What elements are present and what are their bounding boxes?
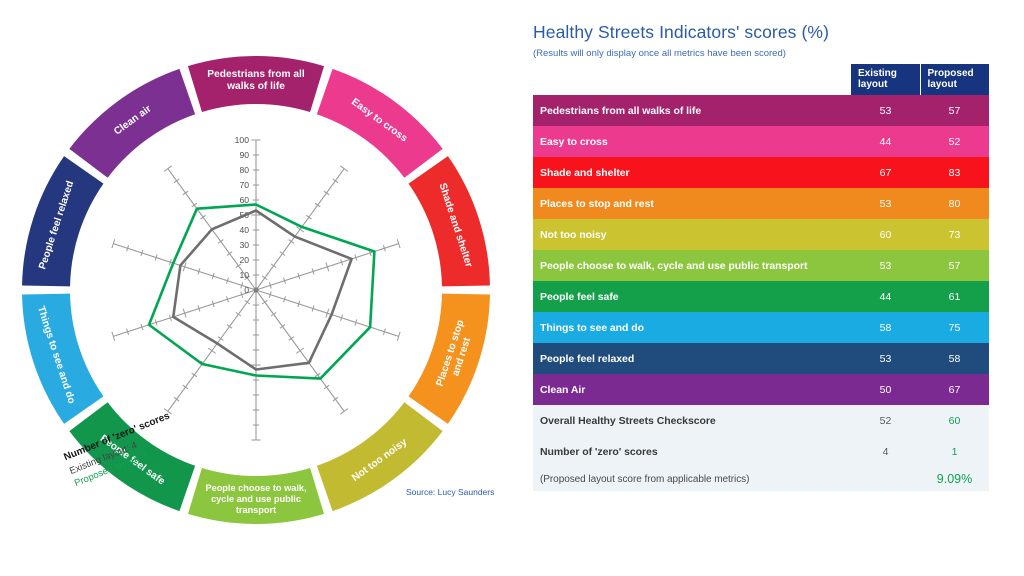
wheel-segment: People choose to walk,cycle and use publ… <box>188 468 324 524</box>
row-proposed-value: 73 <box>920 219 989 250</box>
summary-label: Number of 'zero' scores <box>533 436 851 467</box>
radar-tick-label: 100 <box>235 135 250 145</box>
row-proposed-value: 57 <box>920 250 989 281</box>
row-proposed-value: 58 <box>920 343 989 374</box>
scores-table-body: Pedestrians from all walks of life5357Ea… <box>533 95 989 491</box>
table-row: People feel relaxed5358 <box>533 343 989 374</box>
radar-tick-label: 20 <box>239 255 249 265</box>
wheel-segment: Pedestrians from allwalks of life <box>188 56 324 112</box>
table-row: Places to stop and rest5380 <box>533 188 989 219</box>
radar-tick-label: 0 <box>244 285 249 295</box>
row-label: Shade and shelter <box>533 157 851 188</box>
table-row: Shade and shelter6783 <box>533 157 989 188</box>
table-row: People feel safe4461 <box>533 281 989 312</box>
row-existing-value: 58 <box>851 312 920 343</box>
summary-row: Overall Healthy Streets Checkscore5260 <box>533 405 989 436</box>
page-title: Healthy Streets Indicators' scores (%) <box>533 22 829 43</box>
row-proposed-value: 80 <box>920 188 989 219</box>
summary-proposed-value: 1 <box>920 436 989 467</box>
table-row: Pedestrians from all walks of life5357 <box>533 95 989 126</box>
note-row: (Proposed layout score from applicable m… <box>533 467 989 491</box>
header-proposed-line2: layout <box>928 79 982 90</box>
header-blank <box>533 64 851 95</box>
wheel-panel: Pedestrians from allwalks of lifeEasy to… <box>0 0 512 576</box>
header-proposed-line1: Proposed <box>928 68 982 79</box>
summary-label: Overall Healthy Streets Checkscore <box>533 405 851 436</box>
row-label: Pedestrians from all walks of life <box>533 95 851 126</box>
row-existing-value: 50 <box>851 374 920 405</box>
source-label: Source: Lucy Saunders <box>406 487 494 497</box>
summary-proposed-value: 60 <box>920 405 989 436</box>
row-proposed-value: 52 <box>920 126 989 157</box>
row-proposed-value: 67 <box>920 374 989 405</box>
row-label: Places to stop and rest <box>533 188 851 219</box>
row-existing-value: 44 <box>851 126 920 157</box>
row-label: People feel relaxed <box>533 343 851 374</box>
scores-table: Existing layout Proposed layout Pedestri… <box>533 64 990 491</box>
row-existing-value: 53 <box>851 188 920 219</box>
radar-tick-label: 10 <box>239 270 249 280</box>
radar-tick-label: 80 <box>239 165 249 175</box>
radar-tick-label: 60 <box>239 195 249 205</box>
radar-tick-label: 40 <box>239 225 249 235</box>
row-existing-value: 60 <box>851 219 920 250</box>
row-label: People feel safe <box>533 281 851 312</box>
table-row: Things to see and do5875 <box>533 312 989 343</box>
note-proposed-value: 9.09% <box>920 467 989 491</box>
radar-tick-label: 30 <box>239 240 249 250</box>
row-proposed-value: 61 <box>920 281 989 312</box>
summary-existing-value: 52 <box>851 405 920 436</box>
row-label: Things to see and do <box>533 312 851 343</box>
table-panel: Healthy Streets Indicators' scores (%) (… <box>512 0 1024 576</box>
row-proposed-value: 83 <box>920 157 989 188</box>
table-row: Easy to cross4452 <box>533 126 989 157</box>
header-existing-line1: Existing <box>858 68 913 79</box>
summary-existing-value: 4 <box>851 436 920 467</box>
row-existing-value: 53 <box>851 343 920 374</box>
row-label: Not too noisy <box>533 219 851 250</box>
table-header-row: Existing layout Proposed layout <box>533 64 989 95</box>
header-existing-line2: layout <box>858 79 913 90</box>
row-label: Easy to cross <box>533 126 851 157</box>
row-proposed-value: 75 <box>920 312 989 343</box>
radar-tick-label: 70 <box>239 180 249 190</box>
row-label: People choose to walk, cycle and use pub… <box>533 250 851 281</box>
table-row: People choose to walk, cycle and use pub… <box>533 250 989 281</box>
row-existing-value: 44 <box>851 281 920 312</box>
summary-row: Number of 'zero' scores41 <box>533 436 989 467</box>
row-existing-value: 53 <box>851 95 920 126</box>
header-proposed-layout: Proposed layout <box>920 64 989 95</box>
page-subtitle: (Results will only display once all metr… <box>533 48 786 59</box>
table-row: Clean Air5067 <box>533 374 989 405</box>
note-label: (Proposed layout score from applicable m… <box>533 467 851 491</box>
row-label: Clean Air <box>533 374 851 405</box>
table-row: Not too noisy6073 <box>533 219 989 250</box>
radar-tick-label: 90 <box>239 150 249 160</box>
header-existing-layout: Existing layout <box>851 64 920 95</box>
note-existing-value <box>851 467 920 491</box>
row-existing-value: 53 <box>851 250 920 281</box>
row-existing-value: 67 <box>851 157 920 188</box>
row-proposed-value: 57 <box>920 95 989 126</box>
